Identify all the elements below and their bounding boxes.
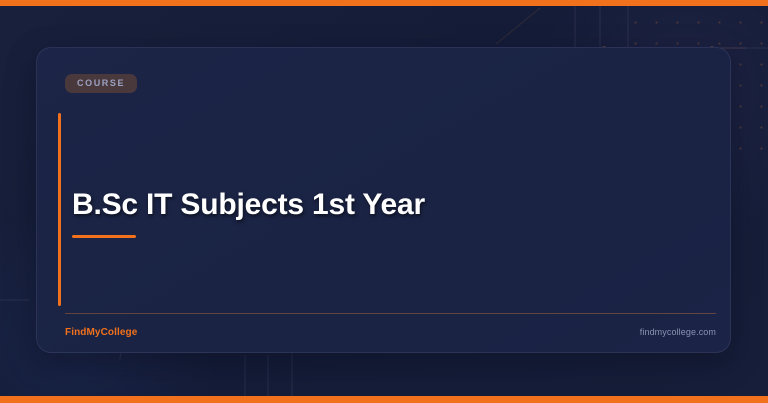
site-url: findmycollege.com (640, 327, 716, 337)
top-accent-bar (0, 0, 768, 6)
left-accent-bar (58, 113, 61, 306)
card-footer: FindMyCollege findmycollege.com (65, 322, 716, 342)
page-title: B.Sc IT Subjects 1st Year (72, 188, 425, 221)
bottom-accent-bar (0, 396, 768, 403)
brand-name: FindMyCollege (65, 327, 137, 338)
footer-divider (65, 313, 716, 314)
title-underline (72, 235, 136, 238)
banner-stage: COURSE B.Sc IT Subjects 1st Year FindMyC… (0, 0, 768, 403)
course-card: COURSE B.Sc IT Subjects 1st Year FindMyC… (36, 47, 731, 353)
status-badge: COURSE (65, 74, 137, 93)
